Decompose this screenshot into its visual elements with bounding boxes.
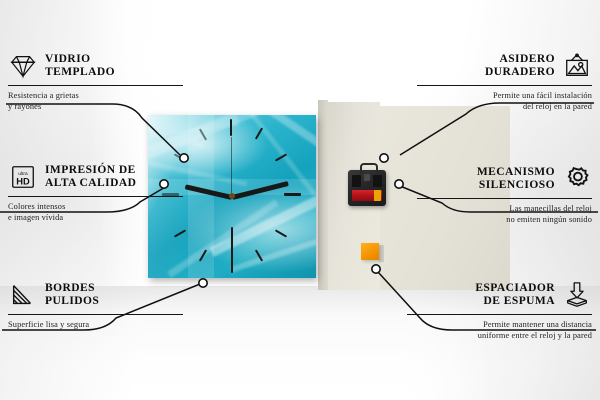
wire-endpoint-dot xyxy=(395,180,403,188)
gear-icon xyxy=(562,165,592,193)
foam-spacer-icon xyxy=(562,281,592,309)
wall-hanger-frame-icon xyxy=(562,52,592,80)
feature-heading: ESPACIADOR DE ESPUMA xyxy=(407,281,592,309)
feature-title: BORDES PULIDOS xyxy=(45,282,99,308)
ultra-hd-icon: ultra HD xyxy=(8,163,38,191)
feature-description: Superficie lisa y segura xyxy=(8,320,183,331)
svg-text:HD: HD xyxy=(16,176,30,186)
wire-endpoint-dot xyxy=(199,279,207,287)
feature-description: Permite una fácil instalación del reloj … xyxy=(417,91,592,112)
feature-heading: VIDRIO TEMPLADO xyxy=(8,52,183,80)
feature-divider xyxy=(417,85,592,86)
feature-divider xyxy=(407,314,592,315)
feature-vidrio-templado[interactable]: VIDRIO TEMPLADO Resistencia a grietas y … xyxy=(8,52,183,112)
feature-description: Colores intensos e imagen vívida xyxy=(8,202,183,223)
feature-impresion-alta-calidad[interactable]: ultra HD IMPRESIÓN DE ALTA CALIDAD Color… xyxy=(8,163,183,223)
polished-edges-icon xyxy=(8,281,38,309)
feature-description: Las manecillas del reloj no emiten ningú… xyxy=(417,204,592,225)
wire-endpoint-dot xyxy=(180,154,188,162)
feature-description: Resistencia a grietas y rayones xyxy=(8,91,183,112)
feature-heading: MECANISMO SILENCIOSO xyxy=(417,165,592,193)
feature-description: Permite mantener una distancia uniforme … xyxy=(407,320,592,341)
feature-espaciador-de-espuma[interactable]: ESPACIADOR DE ESPUMA Permite mantener un… xyxy=(407,281,592,341)
feature-heading: ultra HD IMPRESIÓN DE ALTA CALIDAD xyxy=(8,163,183,191)
feature-asidero-duradero[interactable]: ASIDERO DURADERO Permite una fácil insta… xyxy=(417,52,592,112)
diamond-icon xyxy=(8,52,38,80)
wire-endpoint-dot xyxy=(380,154,388,162)
feature-title: IMPRESIÓN DE ALTA CALIDAD xyxy=(45,164,136,190)
feature-heading: ASIDERO DURADERO xyxy=(417,52,592,80)
feature-bordes-pulidos[interactable]: BORDES PULIDOS Superficie lisa y segura xyxy=(8,281,183,331)
feature-title: VIDRIO TEMPLADO xyxy=(45,53,115,79)
feature-heading: BORDES PULIDOS xyxy=(8,281,183,309)
feature-title: ASIDERO DURADERO xyxy=(485,53,555,79)
infographic-canvas: VIDRIO TEMPLADO Resistencia a grietas y … xyxy=(0,0,600,400)
feature-title: MECANISMO SILENCIOSO xyxy=(477,166,555,192)
feature-divider xyxy=(8,85,183,86)
feature-divider xyxy=(417,198,592,199)
feature-mecanismo-silencioso[interactable]: MECANISMO SILENCIOSO Las manecillas del … xyxy=(417,165,592,225)
feature-title: ESPACIADOR DE ESPUMA xyxy=(475,282,555,308)
feature-divider xyxy=(8,314,183,315)
wire-endpoint-dot xyxy=(372,265,380,273)
feature-divider xyxy=(8,196,183,197)
